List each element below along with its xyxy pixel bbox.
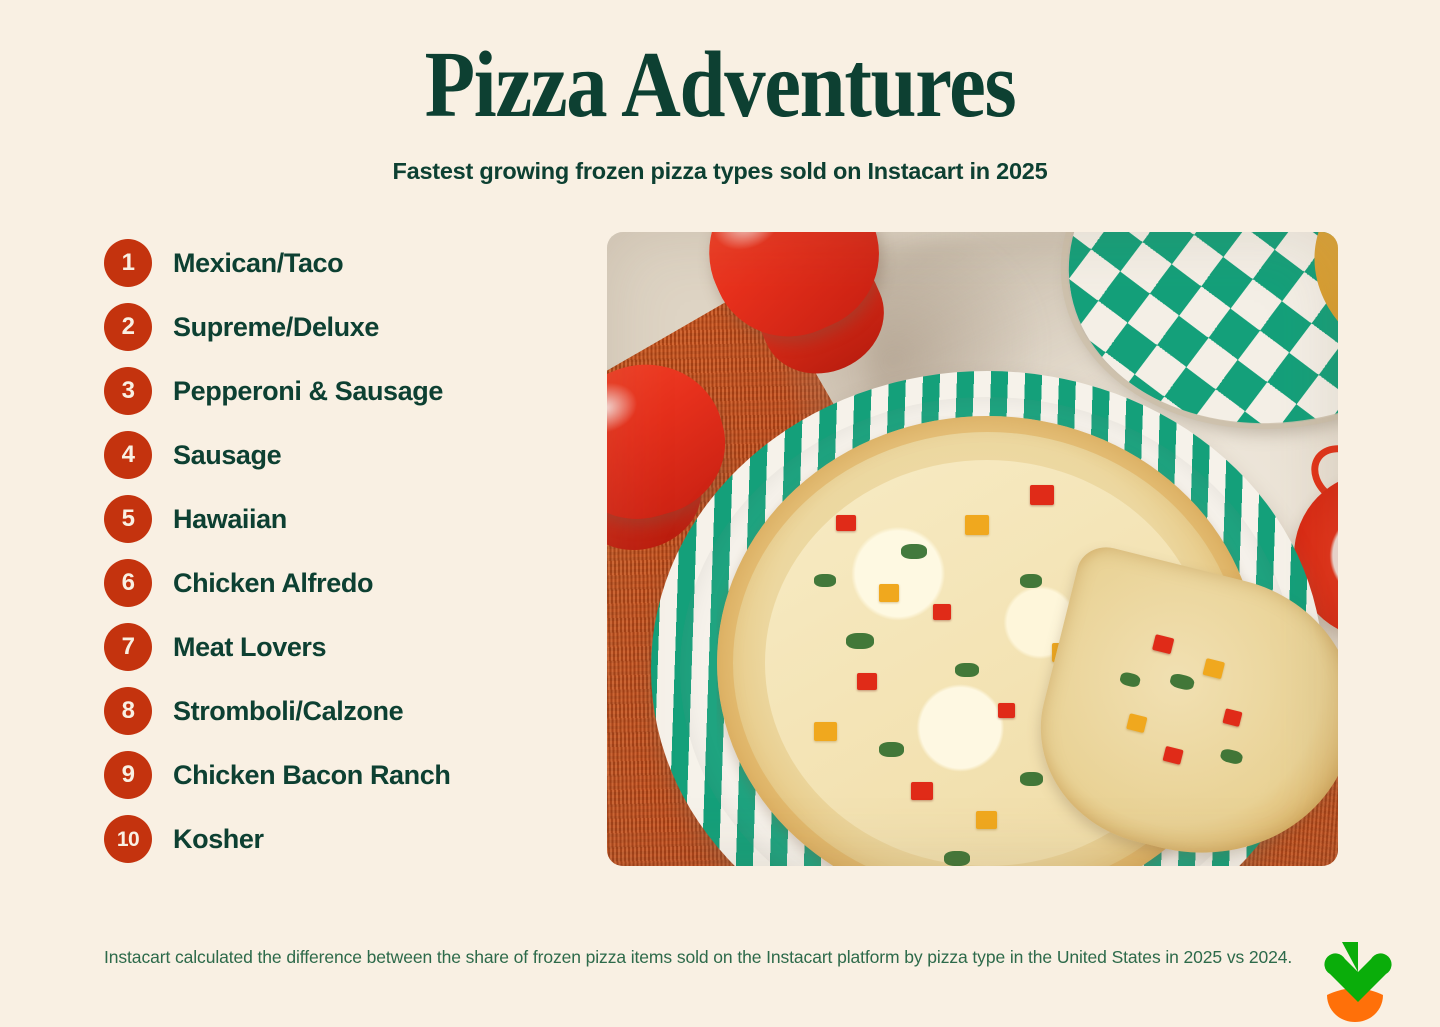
rank-badge: 8 xyxy=(104,687,152,735)
rank-label: Pepperoni & Sausage xyxy=(173,376,443,407)
list-item: 4 Sausage xyxy=(104,431,574,479)
list-item: 2 Supreme/Deluxe xyxy=(104,303,574,351)
list-item: 5 Hawaiian xyxy=(104,495,574,543)
instacart-carrot-logo xyxy=(1309,938,1401,1027)
rank-badge: 3 xyxy=(104,367,152,415)
page-subtitle: Fastest growing frozen pizza types sold … xyxy=(0,158,1440,185)
list-item: 3 Pepperoni & Sausage xyxy=(104,367,574,415)
list-item: 1 Mexican/Taco xyxy=(104,239,574,287)
list-item: 10 Kosher xyxy=(104,815,574,863)
rank-label: Hawaiian xyxy=(173,504,287,535)
list-item: 6 Chicken Alfredo xyxy=(104,559,574,607)
list-item: 7 Meat Lovers xyxy=(104,623,574,671)
rank-badge: 7 xyxy=(104,623,152,671)
rank-badge: 4 xyxy=(104,431,152,479)
rank-label: Chicken Bacon Ranch xyxy=(173,760,450,791)
ranked-pizza-list: 1 Mexican/Taco 2 Supreme/Deluxe 3 Pepper… xyxy=(104,239,574,879)
rank-label: Mexican/Taco xyxy=(173,248,343,279)
list-item: 8 Stromboli/Calzone xyxy=(104,687,574,735)
rank-label: Sausage xyxy=(173,440,281,471)
rank-label: Stromboli/Calzone xyxy=(173,696,403,727)
rank-badge: 5 xyxy=(104,495,152,543)
page-title: Pizza Adventures xyxy=(86,36,1353,135)
rank-badge: 6 xyxy=(104,559,152,607)
list-item: 9 Chicken Bacon Ranch xyxy=(104,751,574,799)
rank-label: Meat Lovers xyxy=(173,632,326,663)
rank-badge: 1 xyxy=(104,239,152,287)
rank-badge: 9 xyxy=(104,751,152,799)
pizza-photo xyxy=(607,232,1338,866)
infographic-page: Pizza Adventures Fastest growing frozen … xyxy=(0,0,1440,1027)
rank-label: Supreme/Deluxe xyxy=(173,312,379,343)
rank-badge: 2 xyxy=(104,303,152,351)
footnote-text: Instacart calculated the difference betw… xyxy=(104,944,1294,971)
rank-badge: 10 xyxy=(104,815,152,863)
rank-label: Kosher xyxy=(173,824,264,855)
rank-label: Chicken Alfredo xyxy=(173,568,373,599)
